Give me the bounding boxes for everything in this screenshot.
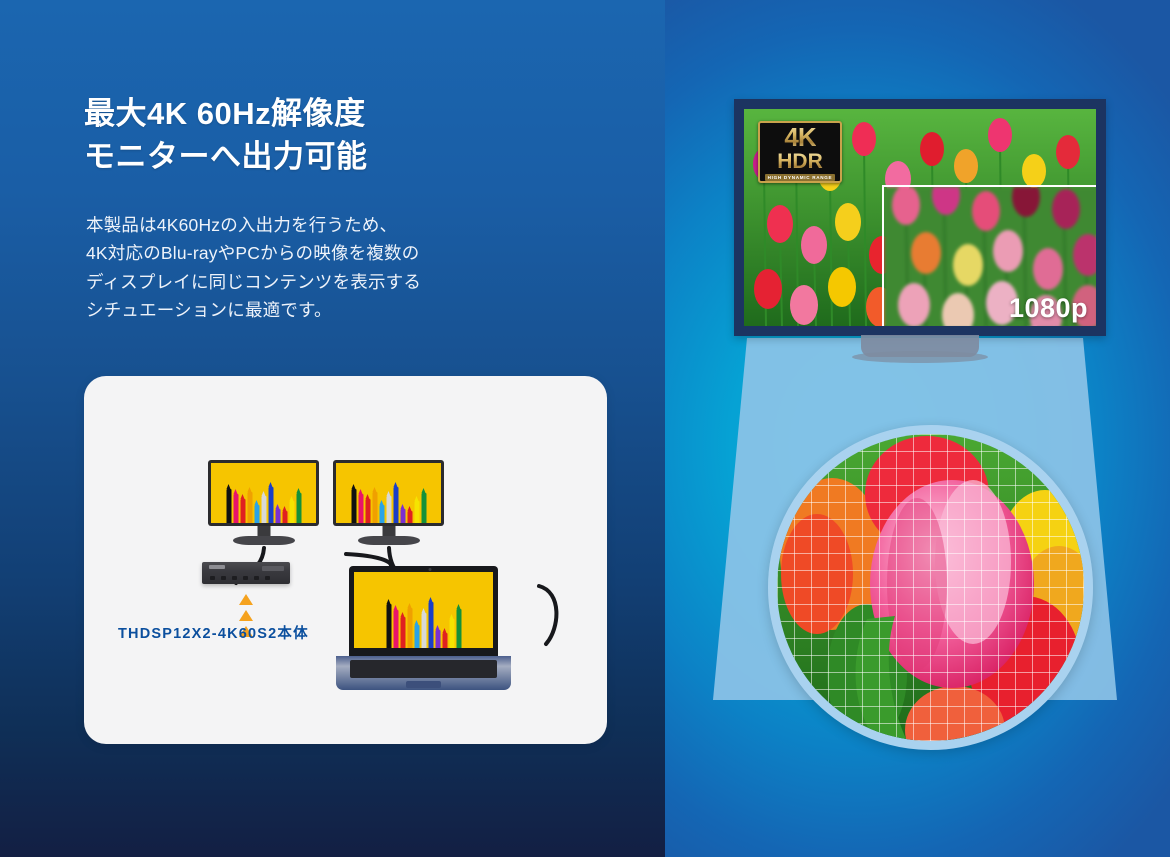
left-panel: 最大4K 60Hz解像度 モニターへ出力可能 本製品は4K60Hzの入出力を行う… xyxy=(0,0,665,857)
badge-subtitle-text: HIGH DYNAMIC RANGE xyxy=(765,174,836,181)
tv-monitor: 4K HDR HIGH DYNAMIC RANGE xyxy=(734,99,1106,336)
connection-diagram: THDSP12X2-4K60S2本体 xyxy=(84,376,607,744)
laptop-keyboard xyxy=(350,660,497,678)
arrow-icon-2 xyxy=(239,610,253,621)
tv-bezel: 4K HDR HIGH DYNAMIC RANGE xyxy=(734,99,1106,336)
1080p-region: 1080p xyxy=(882,185,1096,326)
webcam-icon xyxy=(429,568,432,571)
monitor-right xyxy=(333,460,444,526)
device-model-badge xyxy=(262,566,284,571)
right-panel: 4K HDR HIGH DYNAMIC RANGE xyxy=(665,0,1170,857)
pixel-grid-overlay xyxy=(777,434,1084,741)
pencil-graphic xyxy=(386,602,461,648)
laptop-touchpad xyxy=(406,681,441,688)
description-text: 本製品は4K60Hzの入出力を行うため、 4K対応のBlu-rayやPCからの映… xyxy=(86,211,421,324)
pencil-graphic xyxy=(351,487,426,523)
laptop-device xyxy=(349,566,511,690)
4k-hdr-badge: 4K HDR HIGH DYNAMIC RANGE xyxy=(758,121,842,183)
resolution-label: 1080p xyxy=(1009,293,1088,324)
tv-screen: 4K HDR HIGH DYNAMIC RANGE xyxy=(744,109,1096,326)
device-ports xyxy=(210,576,282,580)
monitor-left xyxy=(208,460,319,526)
tv-stand-base xyxy=(852,351,988,363)
promo-page: 最大4K 60Hz解像度 モニターへ出力可能 本製品は4K60Hzの入出力を行う… xyxy=(0,0,1170,857)
pixel-magnifier xyxy=(768,425,1093,750)
diagram-card: THDSP12X2-4K60S2本体 xyxy=(84,376,607,744)
pencil-graphic xyxy=(226,487,301,523)
badge-4k-text: 4K xyxy=(784,124,815,150)
badge-hdr-text: HDR xyxy=(777,151,823,172)
device-label: THDSP12X2-4K60S2本体 xyxy=(118,622,309,643)
hdmi-splitter-device xyxy=(202,562,290,584)
arrow-icon-1 xyxy=(239,594,253,605)
device-logo xyxy=(209,565,225,569)
page-title: 最大4K 60Hz解像度 モニターへ出力可能 xyxy=(84,93,368,179)
